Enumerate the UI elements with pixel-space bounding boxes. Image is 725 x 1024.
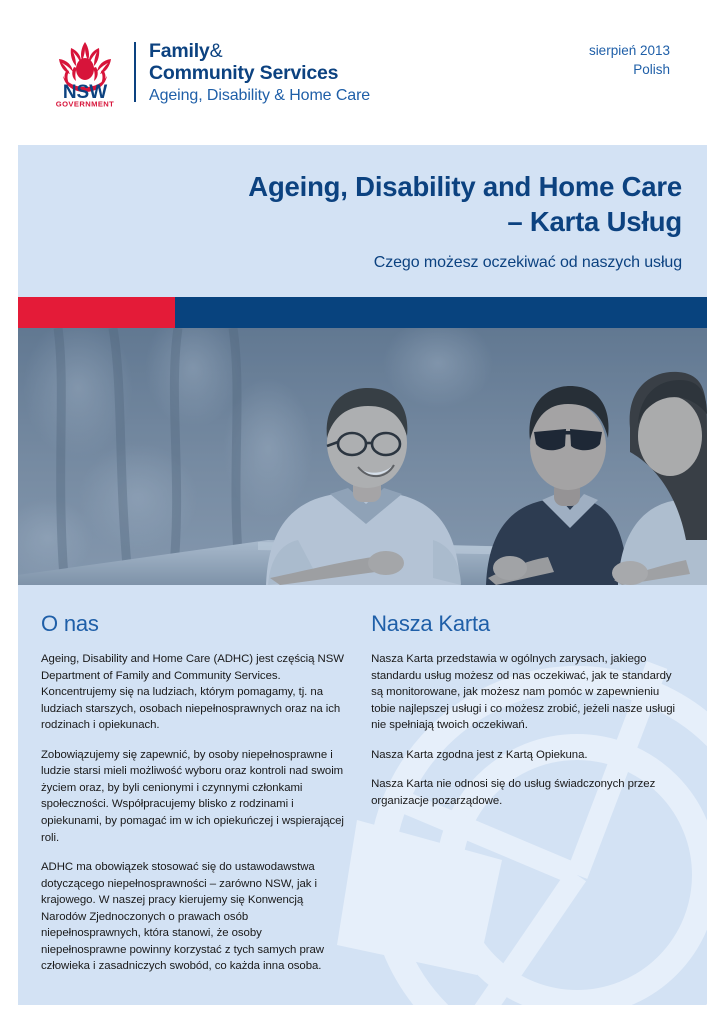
logo-line-family: Family& xyxy=(149,42,370,62)
charter-paragraph-2: Nasza Karta zgodna jest z Kartą Opiekuna… xyxy=(371,734,685,764)
heading-nasza-karta: Nasza Karta xyxy=(371,585,685,636)
charter-paragraph-3: Nasza Karta nie odnosi się do usług świa… xyxy=(371,763,685,809)
page-title-line2: – Karta Usług xyxy=(18,204,682,239)
page-title-line1: Ageing, Disability and Home Care xyxy=(248,171,682,202)
color-band-strip xyxy=(18,297,707,328)
hero-photo xyxy=(18,328,707,585)
about-paragraph-2: Zobowiązujemy się zapewnić, by osoby nie… xyxy=(41,734,349,846)
page-subtitle: Czego możesz oczekiwać od naszych usług xyxy=(18,239,682,272)
title-zone: Ageing, Disability and Home Care – Karta… xyxy=(18,145,707,297)
logo-ampersand: & xyxy=(210,40,223,62)
language-label: Polish xyxy=(589,60,670,79)
nsw-government-waratah-icon: NSW GOVERNMENT xyxy=(47,36,123,108)
page-title: Ageing, Disability and Home Care – Karta… xyxy=(18,145,682,239)
header-meta: sierpień 2013 Polish xyxy=(589,41,670,79)
publication-date: sierpień 2013 xyxy=(589,41,670,60)
logo-wordmark: Family& Community Services Ageing, Disab… xyxy=(149,41,370,104)
red-band xyxy=(18,297,175,328)
logo-family-text: Family xyxy=(149,40,210,62)
column-about-us: O nas Ageing, Disability and Home Care (… xyxy=(41,585,371,975)
logo-line-adhc: Ageing, Disability & Home Care xyxy=(149,88,370,104)
logo-government-text: GOVERNMENT xyxy=(56,100,114,109)
page-header: NSW GOVERNMENT Family& Community Service… xyxy=(0,0,725,145)
nsw-family-community-services-logo: NSW GOVERNMENT Family& Community Service… xyxy=(47,36,370,108)
about-paragraph-1: Ageing, Disability and Home Care (ADHC) … xyxy=(41,636,349,734)
logo-divider xyxy=(134,42,136,102)
main-blue-panel: Ageing, Disability and Home Care – Karta… xyxy=(18,145,707,1005)
column-our-charter: Nasza Karta Nasza Karta przedstawia w og… xyxy=(371,585,685,975)
body-columns: O nas Ageing, Disability and Home Care (… xyxy=(18,585,707,975)
navy-band xyxy=(175,297,707,328)
about-paragraph-3: ADHC ma obowiązek stosować się do ustawo… xyxy=(41,846,349,975)
heading-o-nas: O nas xyxy=(41,585,349,636)
charter-paragraph-1: Nasza Karta przedstawia w ogólnych zarys… xyxy=(371,636,685,734)
logo-line-community-services: Community Services xyxy=(149,64,370,84)
